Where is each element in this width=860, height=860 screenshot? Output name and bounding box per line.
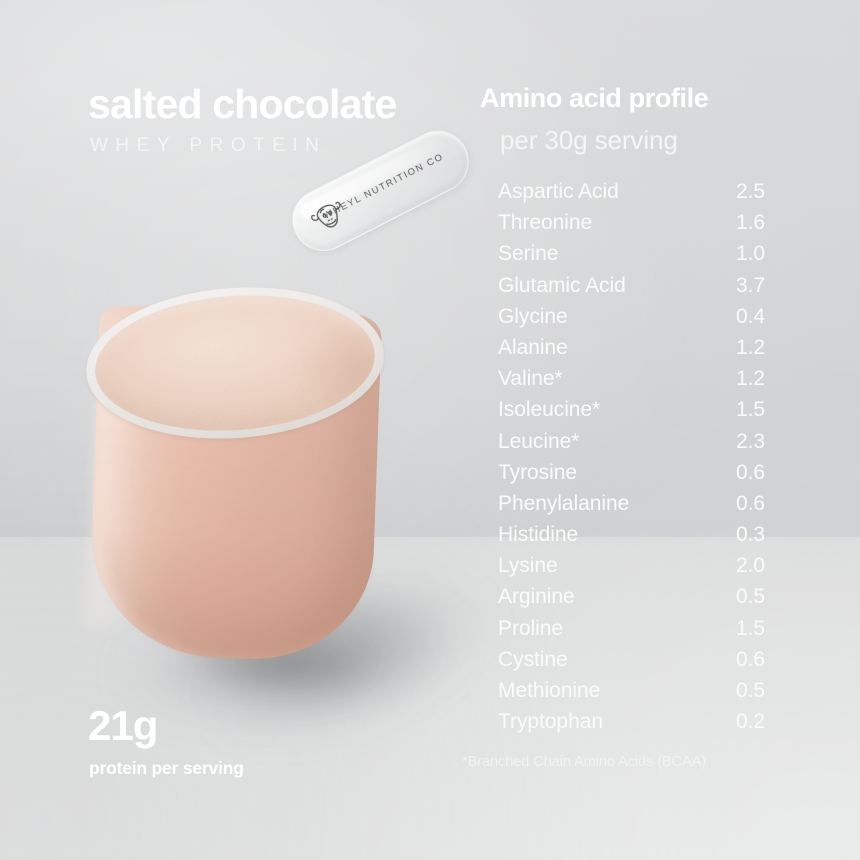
amino-acid-value: 3.7 [713, 274, 765, 298]
amino-acid-name: Glutamic Acid [498, 274, 713, 298]
amino-acid-name: Isoleucine* [498, 398, 713, 422]
amino-acid-value: 0.6 [713, 492, 765, 516]
amino-acid-name: Methionine [498, 679, 713, 703]
amino-acid-value: 0.5 [713, 585, 765, 609]
amino-acid-value: 0.4 [713, 305, 765, 329]
page-title: salted chocolate [88, 84, 396, 125]
amino-acid-name: Histidine [498, 523, 713, 547]
amino-acid-value: 1.5 [713, 398, 765, 422]
amino-acid-name: Tyrosine [498, 461, 713, 485]
amino-acid-panel-subtitle: per 30g serving [500, 127, 678, 153]
amino-acid-value: 1.6 [713, 211, 765, 235]
amino-acid-row: Isoleucine*1.5 [498, 398, 798, 429]
amino-acid-row: Leucine*2.3 [498, 430, 798, 461]
amino-acid-row: Proline1.5 [498, 617, 798, 648]
amino-acid-name: Cystine [498, 648, 713, 672]
amino-acid-name: Arginine [498, 585, 713, 609]
amino-acid-row: Aspartic Acid2.5 [498, 180, 798, 211]
amino-acid-row: Serine1.0 [498, 242, 798, 273]
amino-acid-row: Methionine0.5 [498, 679, 798, 710]
amino-acid-row: Glycine0.4 [498, 305, 798, 336]
amino-acid-row: Phenylalanine0.6 [498, 492, 798, 523]
amino-acid-row: Glutamic Acid3.7 [498, 274, 798, 305]
amino-acid-value: 1.5 [713, 617, 765, 641]
product-photo-composition: WHEYL NUTRITION CO [0, 0, 860, 860]
amino-acid-name: Threonine [498, 211, 713, 235]
amino-acid-value: 1.2 [713, 367, 765, 391]
amino-acid-row: Tyrosine0.6 [498, 461, 798, 492]
protein-amount: 21g [88, 705, 157, 747]
amino-acid-name: Lysine [498, 554, 713, 578]
amino-acid-row: Tryptophan0.2 [498, 710, 798, 741]
amino-acid-value: 0.6 [713, 461, 765, 485]
amino-acid-row: Alanine1.2 [498, 336, 798, 367]
amino-acid-row: Valine*1.2 [498, 367, 798, 398]
amino-acid-name: Proline [498, 617, 713, 641]
amino-acid-value: 2.5 [713, 180, 765, 204]
amino-acid-value: 0.6 [713, 648, 765, 672]
amino-acid-row: Threonine1.6 [498, 211, 798, 242]
amino-acid-value: 0.5 [713, 679, 765, 703]
amino-acid-name: Glycine [498, 305, 713, 329]
amino-acid-name: Serine [498, 242, 713, 266]
amino-acid-panel: Amino acid profile per 30g serving Aspar… [470, 0, 860, 860]
amino-acid-name: Valine* [498, 367, 713, 391]
amino-acid-list: Aspartic Acid2.5Threonine1.6Serine1.0Glu… [498, 180, 798, 741]
amino-acid-row: Cystine0.6 [498, 648, 798, 679]
amino-acid-value: 0.2 [713, 710, 765, 734]
amino-acid-row: Lysine2.0 [498, 554, 798, 585]
amino-acid-name: Aspartic Acid [498, 180, 713, 204]
amino-acid-name: Tryptophan [498, 710, 713, 734]
amino-acid-value: 2.0 [713, 554, 765, 578]
amino-acid-panel-title: Amino acid profile [480, 85, 708, 112]
amino-acid-name: Phenylalanine [498, 492, 713, 516]
amino-acid-row: Arginine0.5 [498, 585, 798, 616]
page-subtitle: WHEY PROTEIN [90, 136, 326, 155]
bcaa-footnote: *Branched Chain Amino Acids (BCAA) [462, 754, 706, 770]
amino-acid-row: Histidine0.3 [498, 523, 798, 554]
amino-acid-value: 0.3 [713, 523, 765, 547]
amino-acid-value: 1.0 [713, 242, 765, 266]
amino-acid-value: 2.3 [713, 430, 765, 454]
amino-acid-name: Leucine* [498, 430, 713, 454]
amino-acid-value: 1.2 [713, 336, 765, 360]
amino-acid-name: Alanine [498, 336, 713, 360]
protein-caption: protein per serving [89, 760, 244, 778]
